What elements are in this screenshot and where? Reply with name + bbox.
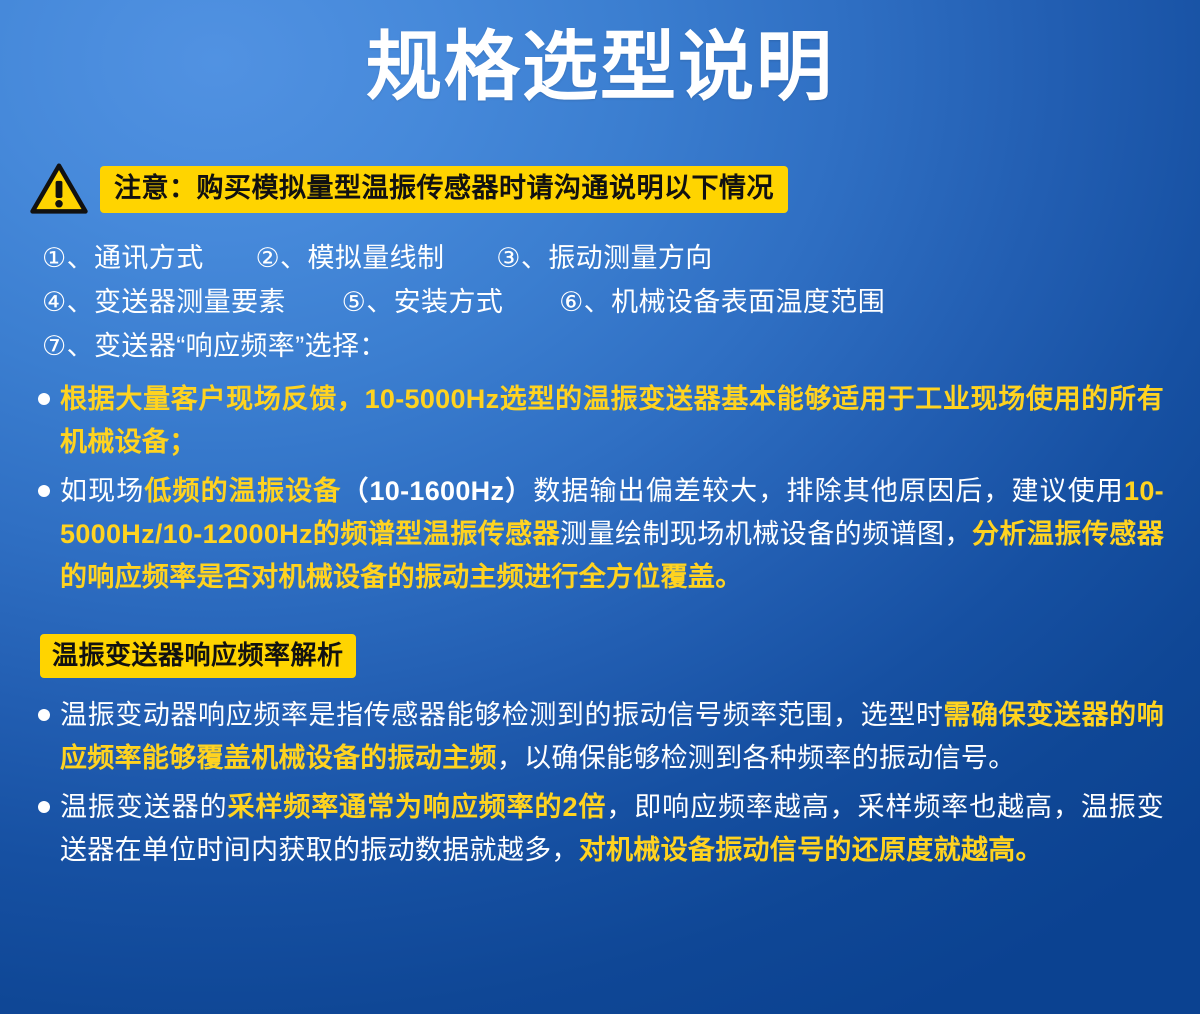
text-segment-2: 采样频率通常为响应频率的2倍 <box>228 792 607 822</box>
poster-root: 规格选型说明 注意：购买模拟量型温振传感器时请沟通说明以下情况 ①、通讯方式 ②… <box>0 0 1200 1014</box>
bullet-text: 如现场低频的温振设备（10-1600Hz）数据输出偏差较大，排除其他原因后，建议… <box>60 470 1164 599</box>
numbered-item-7-marker: ⑦、 <box>42 331 94 361</box>
numbered-item-2-marker: ②、 <box>255 243 307 273</box>
numbered-row-1: ①、通讯方式 ②、模拟量线制 ③、振动测量方向 <box>42 236 1162 280</box>
page-title: 规格选型说明 <box>366 30 834 106</box>
numbered-item-2-label: 模拟量线制 <box>307 243 444 273</box>
bullet-dot-icon <box>38 801 50 813</box>
bullet-item: 温振变送器的采样频率通常为响应频率的2倍，即响应频率越高，采样频率也越高，温振变… <box>34 786 1164 872</box>
notice-row: 注意：购买模拟量型温振传感器时请沟通说明以下情况 <box>30 163 788 215</box>
numbered-item-2: ②、模拟量线制 <box>255 236 444 280</box>
bullet-item: 如现场低频的温振设备（10-1600Hz）数据输出偏差较大，排除其他原因后，建议… <box>34 470 1164 599</box>
bullet-item: 根据大量客户现场反馈，10-5000Hz选型的温振变送器基本能够适用于工业现场使… <box>34 378 1164 464</box>
numbered-item-3: ③、振动测量方向 <box>496 236 712 280</box>
numbered-item-1-label: 通讯方式 <box>94 243 204 273</box>
numbered-row-3: ⑦、变送器“响应频率”选择： <box>42 324 1162 368</box>
numbered-item-6-label: 机械设备表面温度范围 <box>611 287 885 317</box>
numbered-item-3-label: 振动测量方向 <box>548 243 712 273</box>
text-segment-4: 对机械设备振动信号的还原度就越高。 <box>579 835 1043 865</box>
bullet-dot-icon <box>38 393 50 405</box>
warning-triangle-icon <box>30 163 88 215</box>
bullet-dot-icon <box>38 485 50 497</box>
bullet-group-bottom: 温振变动器响应频率是指传感器能够检测到的振动信号频率范围，选型时需确保变送器的响… <box>34 694 1164 878</box>
notice-banner: 注意：购买模拟量型温振传感器时请沟通说明以下情况 <box>100 166 788 213</box>
numbered-item-1-marker: ①、 <box>42 243 94 273</box>
numbered-item-7: ⑦、变送器“响应频率”选择： <box>42 324 387 368</box>
numbered-item-5: ⑤、安装方式 <box>342 280 504 324</box>
text-segment-1: 温振变送器的 <box>60 792 228 822</box>
bullet-dot-icon <box>38 709 50 721</box>
numbered-item-6: ⑥、机械设备表面温度范围 <box>559 280 885 324</box>
section-heading: 温振变送器响应频率解析 <box>40 634 356 678</box>
numbered-item-4: ④、变送器测量要素 <box>42 280 286 324</box>
text-segment-4: 数据输出偏差较大，排除其他原因后，建议使用 <box>533 476 1124 506</box>
numbered-item-4-label: 变送器测量要素 <box>94 287 286 317</box>
text-segment-1: 根据大量客户现场反馈，10-5000Hz选型的温振变送器基本能够适用于工业现场使… <box>60 384 1164 457</box>
text-segment-1: 温振变动器响应频率是指传感器能够检测到的振动信号频率范围，选型时 <box>60 700 943 730</box>
text-segment-1: 如现场 <box>60 476 144 506</box>
bullet-text: 温振变动器响应频率是指传感器能够检测到的振动信号频率范围，选型时需确保变送器的响… <box>60 694 1164 780</box>
numbered-item-4-marker: ④、 <box>42 287 94 317</box>
text-segment-3: ，以确保能够检测到各种频率的振动信号。 <box>497 743 1016 773</box>
text-segment-3: （10-1600Hz） <box>341 476 533 506</box>
bullet-group-top: 根据大量客户现场反馈，10-5000Hz选型的温振变送器基本能够适用于工业现场使… <box>34 378 1164 605</box>
page-title-wrap: 规格选型说明 <box>0 30 1200 106</box>
bullet-item: 温振变动器响应频率是指传感器能够检测到的振动信号频率范围，选型时需确保变送器的响… <box>34 694 1164 780</box>
numbered-item-7-label: 变送器“响应频率”选择： <box>94 331 387 361</box>
numbered-item-3-marker: ③、 <box>496 243 548 273</box>
text-segment-6: 测量绘制现场机械设备的频谱图， <box>560 519 972 549</box>
numbered-item-5-marker: ⑤、 <box>342 287 394 317</box>
numbered-row-2: ④、变送器测量要素 ⑤、安装方式 ⑥、机械设备表面温度范围 <box>42 280 1162 324</box>
numbered-item-5-label: 安装方式 <box>394 287 504 317</box>
numbered-item-1: ①、通讯方式 <box>42 236 204 280</box>
bullet-text: 根据大量客户现场反馈，10-5000Hz选型的温振变送器基本能够适用于工业现场使… <box>60 378 1164 464</box>
bullet-text: 温振变送器的采样频率通常为响应频率的2倍，即响应频率越高，采样频率也越高，温振变… <box>60 786 1164 872</box>
numbered-item-6-marker: ⑥、 <box>559 287 611 317</box>
numbered-list: ①、通讯方式 ②、模拟量线制 ③、振动测量方向 ④、变送器测量要素 ⑤、安装方式… <box>42 236 1162 368</box>
text-segment-2: 低频的温振设备 <box>144 476 341 506</box>
